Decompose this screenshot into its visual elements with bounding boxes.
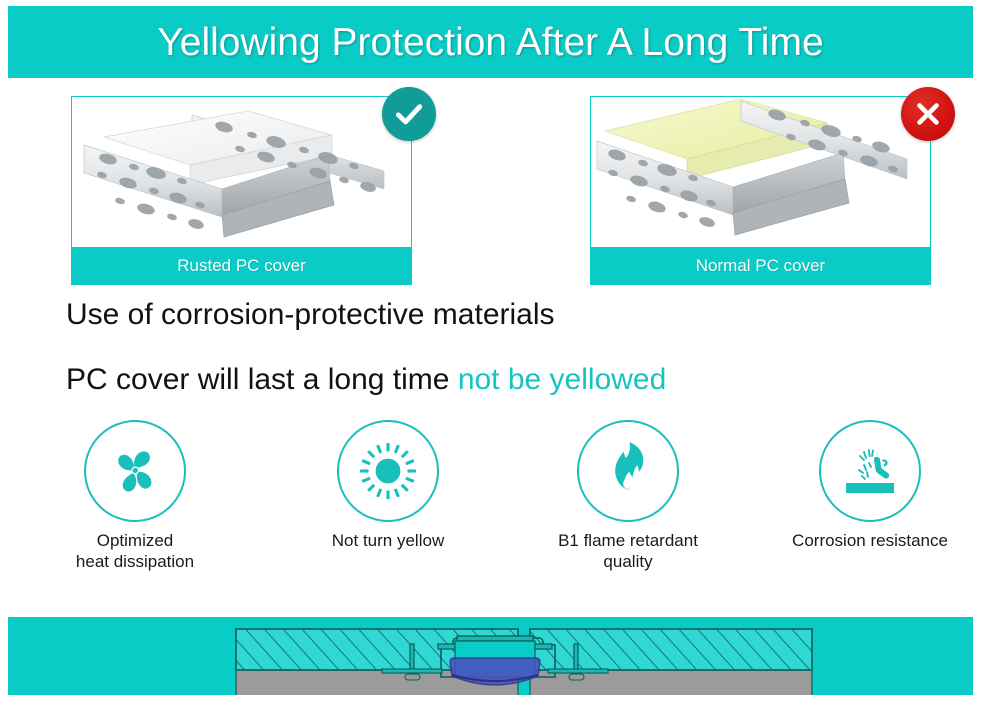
feature-circle-3 (577, 420, 679, 522)
corrosion-icon (838, 439, 902, 503)
fan-icon (103, 439, 167, 503)
comparison-row: Rusted PC cover (0, 96, 981, 291)
feature-circle-4 (819, 420, 921, 522)
feature-list: Optimized heat dissipation (0, 420, 981, 590)
headline-block: Use of corrosion-protective materials PC… (66, 298, 946, 396)
product-photo-normal-pc-cover (590, 96, 931, 248)
caption-right: Normal PC cover (590, 247, 931, 285)
sun-icon (356, 439, 420, 503)
page-title: Yellowing Protection After A Long Time (157, 23, 823, 62)
headline-secondary: PC cover will last a long time not be ye… (66, 363, 946, 396)
feature-label-4: Corrosion resistance (760, 531, 980, 552)
feature-label-1: Optimized heat dissipation (25, 531, 245, 572)
feature-label-2: Not turn yellow (278, 531, 498, 552)
technical-diagram-band (8, 617, 973, 695)
feature-circle-2 (337, 420, 439, 522)
headline-primary: Use of corrosion-protective materials (66, 298, 946, 331)
headline-secondary-accent: not be yellowed (458, 363, 666, 396)
feature-item-not-turn-yellow: Not turn yellow (278, 420, 498, 552)
feature-item-b1-flame-retardant: B1 flame retardant quality (518, 420, 738, 572)
header-banner: Yellowing Protection After A Long Time (8, 6, 973, 78)
comparison-card-left: Rusted PC cover (71, 96, 412, 285)
flame-icon (596, 439, 660, 503)
feature-circle-1 (84, 420, 186, 522)
feature-item-optimized-heat-dissipation: Optimized heat dissipation (25, 420, 245, 572)
cross-section-diagram (8, 617, 973, 695)
feature-item-corrosion-resistance: Corrosion resistance (760, 420, 980, 552)
cross-badge-icon (901, 87, 955, 141)
comparison-card-right: Normal PC cover (590, 96, 931, 285)
product-photo-rusted-pc-cover (71, 96, 412, 248)
caption-left: Rusted PC cover (71, 247, 412, 285)
check-badge-icon (382, 87, 436, 141)
headline-secondary-plain: PC cover will last a long time (66, 363, 458, 396)
feature-label-3: B1 flame retardant quality (518, 531, 738, 572)
